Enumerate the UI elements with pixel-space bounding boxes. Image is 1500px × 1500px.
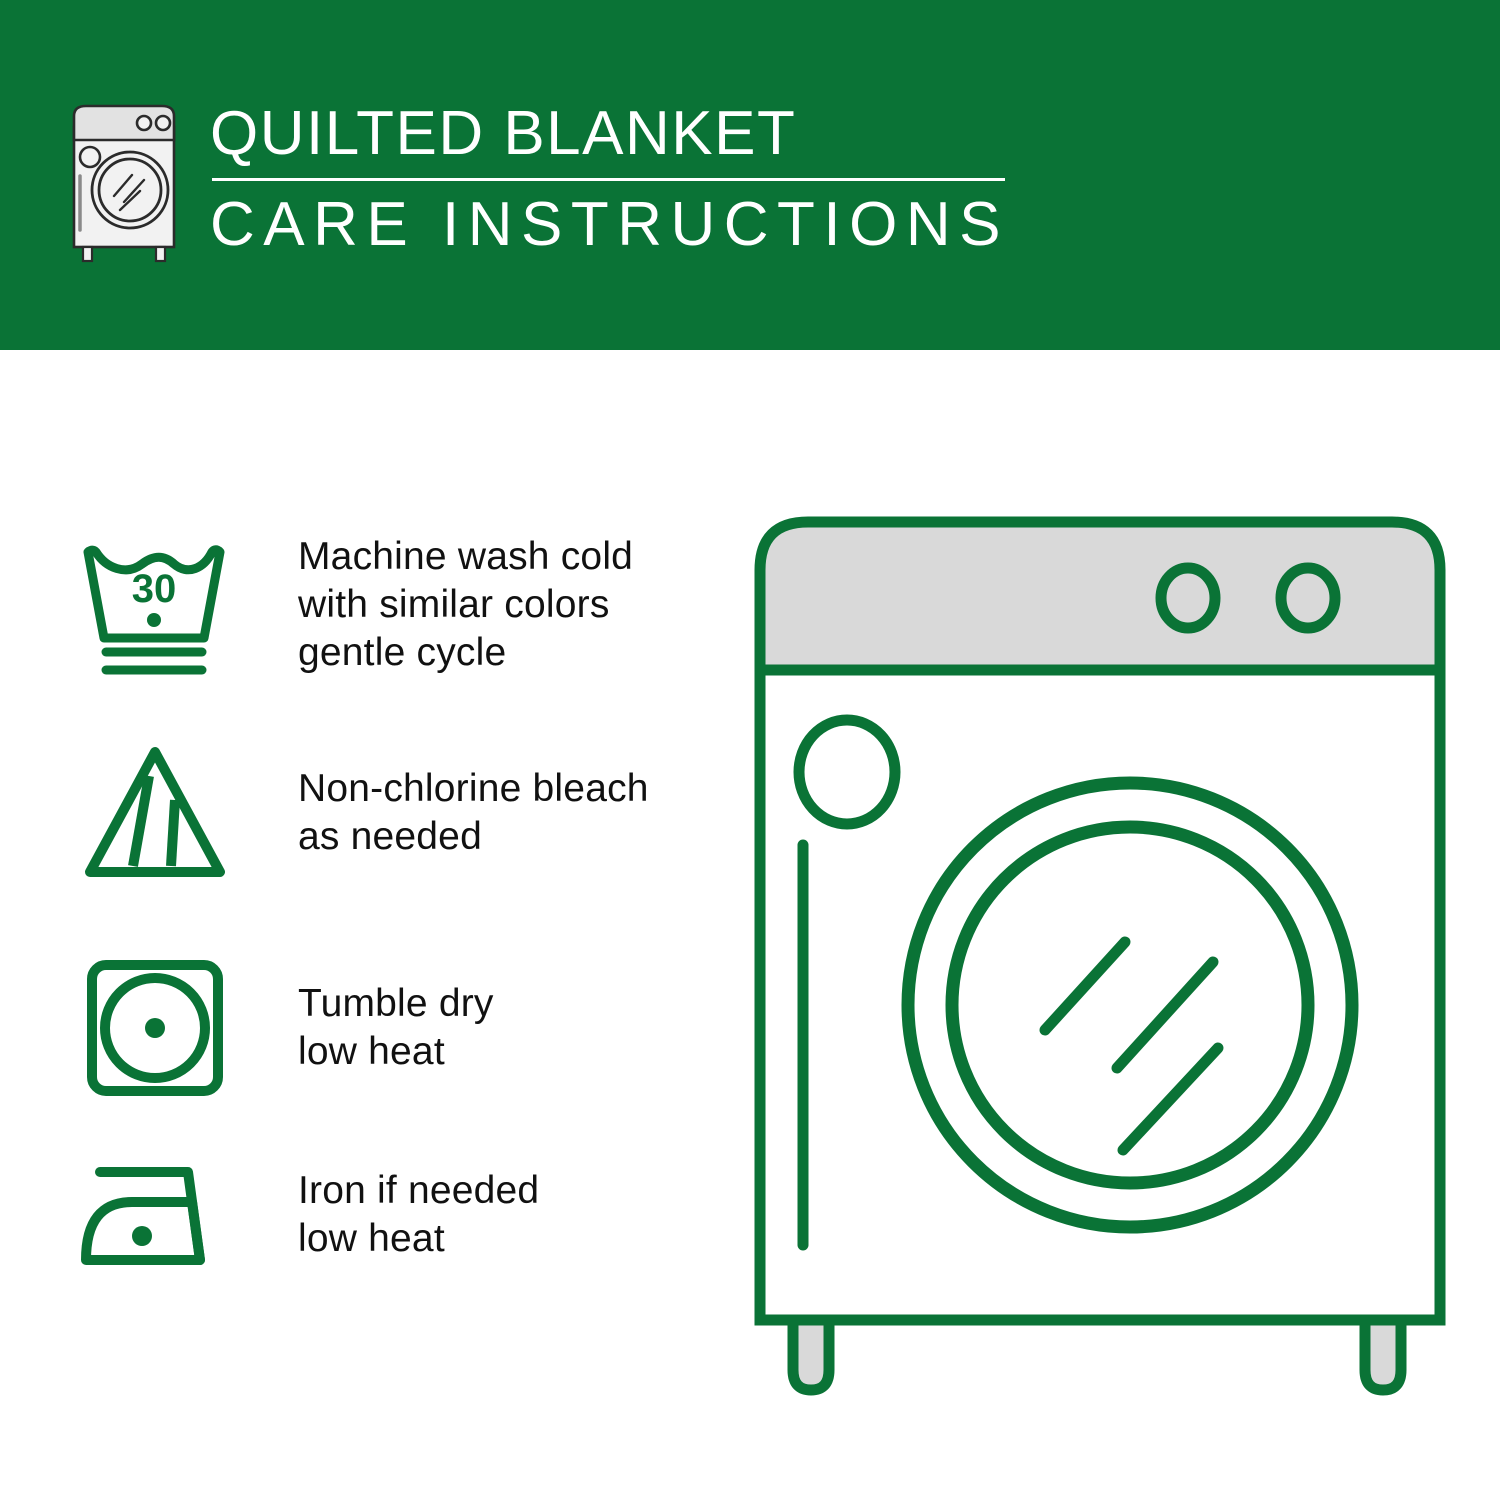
page-title: QUILTED BLANKET (210, 98, 1009, 170)
leg-icon (1365, 1320, 1401, 1390)
care-row-wash: 30 Machine wash cold with similar colors… (70, 505, 730, 705)
care-row-tumble-dry: Tumble dry low heat (70, 920, 730, 1135)
page-subtitle: CARE INSTRUCTIONS (210, 189, 1009, 261)
title-divider (212, 178, 1005, 181)
leg-icon (793, 1320, 829, 1390)
header-content: QUILTED BLANKET CARE INSTRUCTIONS (58, 92, 1009, 267)
header-titles: QUILTED BLANKET CARE INSTRUCTIONS (210, 98, 1009, 261)
header-banner: QUILTED BLANKET CARE INSTRUCTIONS (0, 0, 1500, 350)
tumble-dry-low-heat-icon (70, 953, 240, 1103)
care-text-iron: Iron if needed low heat (298, 1167, 539, 1263)
care-text-tumble-dry: Tumble dry low heat (298, 980, 494, 1076)
non-chlorine-bleach-triangle-icon (70, 738, 240, 888)
iron-low-heat-icon (70, 1150, 240, 1280)
machine-wash-30-gentle-icon: 30 (70, 530, 240, 680)
care-text-wash: Machine wash cold with similar colors ge… (298, 533, 633, 677)
washing-machine-logo-icon (58, 92, 198, 267)
washing-machine-illustration (735, 490, 1465, 1420)
svg-text:30: 30 (132, 567, 177, 611)
care-row-bleach: Non-chlorine bleach as needed (70, 705, 730, 920)
care-row-iron: Iron if needed low heat (70, 1135, 730, 1295)
care-text-bleach: Non-chlorine bleach as needed (298, 765, 649, 861)
care-instruction-list: 30 Machine wash cold with similar colors… (70, 505, 730, 1295)
